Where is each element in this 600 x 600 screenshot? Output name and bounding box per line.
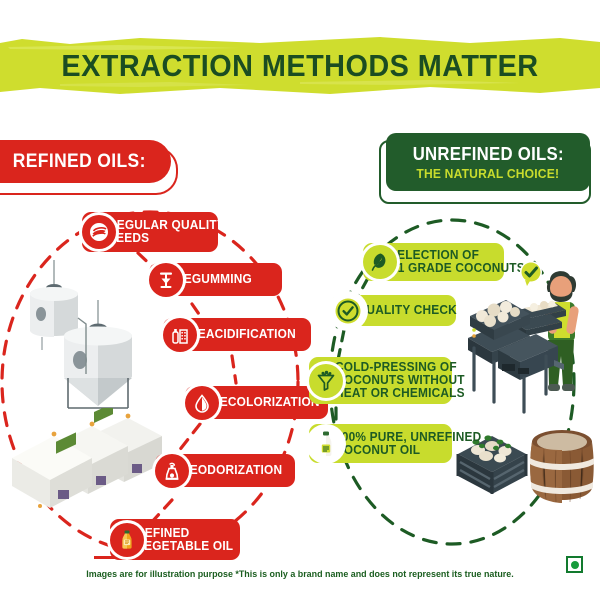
coconut-crate-and-barrel-illustration [452,408,600,528]
refined-step-5-line1: DEODORIZATION [181,464,278,477]
vegetarian-mark-icon [566,556,583,573]
refined-step-6-line2: VEGETABLE OIL [136,540,223,553]
unrefined-badge-line1: UNREFINED OILS: [412,144,563,165]
refined-step-2-line1: DEGUMMING [175,273,265,286]
leaf-icon [363,245,397,279]
coconut-crate [458,435,526,494]
check-mark-icon [516,258,546,288]
refined-step-1[interactable]: REGULAR QUALITY SEEDS [82,212,218,252]
oil-bottle-icon [110,523,144,557]
refined-step-1-line2: SEEDS [108,232,201,245]
infographic-canvas: EXTRACTION METHODS MATTER REFINED OILS: … [0,0,600,600]
unrefined-step-1[interactable]: SELECTION OF A1 GRADE COCONUTS [363,243,504,281]
industrial-storage-tanks-illustration [14,258,166,410]
unrefined-step-4[interactable]: 100% PURE, UNREFINED COCONUT OIL [309,424,452,463]
decolorization-droplet-icon [185,386,219,420]
refined-step-4-line1: DECOLORIZATION [211,396,311,409]
footer-disclaimer: Images are for illustration purpose *Thi… [9,569,591,579]
refined-oils-badge: REFINED OILS: [0,140,171,183]
deodorization-flask-icon [155,454,189,488]
wooden-barrel [530,430,594,503]
unrefined-step-3[interactable]: COLD-PRESSING OF COCONUTS WITHOUT HEAT O… [309,357,452,404]
refined-step-6[interactable]: REFINED VEGETABLE OIL [110,519,240,560]
deacidification-plant-icon [163,318,197,352]
refined-step-2[interactable]: DEGUMMING [149,263,282,296]
coconut-oil-bottle-icon [309,427,343,461]
unrefined-step-4-line2: COCONUT OIL [335,444,435,457]
refined-step-5[interactable]: DEODORIZATION [155,454,295,487]
refined-badge-label: REFINED OILS: [13,151,146,173]
quality-check-icon [331,294,365,328]
seeds-icon [82,215,116,249]
refined-step-4[interactable]: DECOLORIZATION [185,386,328,419]
refined-step-3[interactable]: DEACIDIFICATION [163,318,311,351]
cold-press-funnel-icon [309,364,343,398]
refined-step-3-line1: DEACIDIFICATION [189,328,294,341]
refinery-machines-illustration [4,408,164,516]
unrefined-oils-badge: UNREFINED OILS: THE NATURAL CHOICE! [386,133,590,191]
unrefined-step-2[interactable]: QUALITY CHECK [331,295,456,326]
vegetarian-mark-dot [571,561,579,569]
degumming-mixer-icon [149,263,183,297]
unrefined-step-1-line2: A1 GRADE COCONUTS [389,262,487,275]
unrefined-badge-line2: THE NATURAL CHOICE! [417,166,560,181]
worker-figure [543,271,579,391]
unrefined-step-3-line3: HEAT OR CHEMICALS [335,387,435,400]
unrefined-step-2-line1: QUALITY CHECK [357,304,440,317]
